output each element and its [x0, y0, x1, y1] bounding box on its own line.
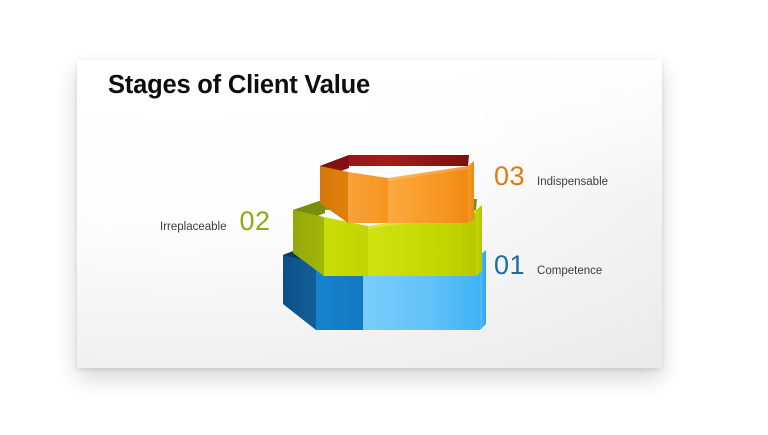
layer-01-front-face-right	[363, 255, 480, 330]
layer-03-left-face	[320, 166, 348, 223]
layer-01-edge-highlight	[363, 255, 480, 276]
blue-reflection	[283, 304, 480, 330]
layer-02-top-face	[293, 199, 477, 210]
layer-01-left-face	[283, 255, 316, 330]
callout-indispensable[interactable]: 03 Indispensable	[494, 163, 608, 190]
layer-03-right-bevel	[468, 161, 474, 223]
layer-01-top-left-wedge	[283, 242, 317, 274]
layer-block-03[interactable]	[320, 155, 474, 223]
page-title: Stages of Client Value	[108, 71, 370, 100]
callout-number-01: 01	[494, 252, 525, 279]
layer-block-02[interactable]	[293, 199, 482, 276]
layer-03-top-left-wedge	[320, 155, 349, 179]
callout-competence[interactable]: 01 Competence	[494, 252, 602, 279]
layer-02-front-face-left	[324, 217, 368, 276]
layer-02-right-bevel	[476, 205, 482, 276]
callout-label-01: Competence	[537, 266, 602, 278]
layer-block-01[interactable]	[283, 242, 486, 330]
layer-03-top-face	[320, 155, 469, 166]
layer-02-front-face-right	[368, 210, 476, 276]
layer-02-edge-highlight	[368, 210, 476, 229]
callout-irreplaceable[interactable]: Irreplaceable 02	[160, 208, 271, 235]
layer-03-edge-highlight	[388, 166, 468, 181]
layer-02-left-face	[293, 210, 324, 276]
layer-03-front-face-left	[348, 172, 388, 223]
layer-01-top-face	[283, 242, 481, 255]
presentation-slide: Stages of Client Value	[77, 60, 662, 368]
layer-03-front-face-right	[388, 166, 468, 223]
layer-01-front-face-left	[316, 263, 363, 330]
layer-01-right-bevel	[480, 250, 486, 330]
callout-number-03: 03	[494, 163, 525, 190]
layer-02-top-left-wedge	[293, 199, 325, 226]
callout-label-02: Irreplaceable	[160, 222, 226, 234]
callout-label-03: Indispensable	[537, 177, 608, 189]
callout-number-02: 02	[239, 208, 270, 235]
screenshot-canvas: Stages of Client Value	[0, 0, 768, 435]
